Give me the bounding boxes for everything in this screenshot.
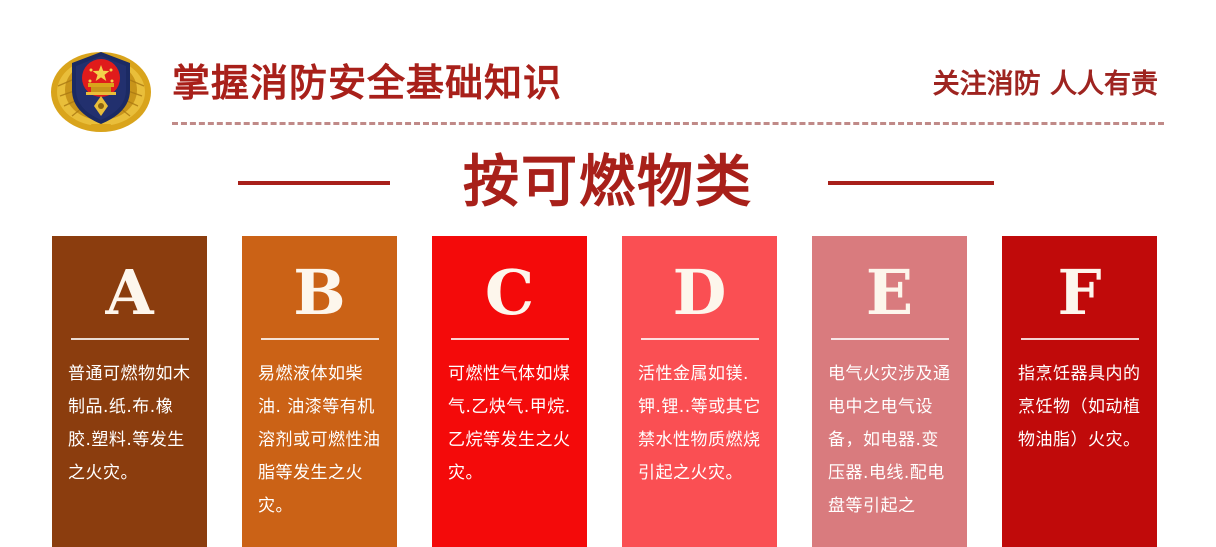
header-divider <box>172 122 1164 125</box>
section-title-row: 按可燃物类 <box>0 140 1216 224</box>
fire-class-description: 指烹饪器具内的烹饪物（如动植物油脂）火灾。 <box>1002 340 1157 457</box>
fire-class-letter: D <box>622 236 777 328</box>
fire-class-card-d: D 活性金属如镁.钾.锂..等或其它禁水性物质燃烧引起之火灾。 <box>622 236 777 547</box>
header-slogan: 关注消防 人人有责 <box>933 62 1158 101</box>
fire-class-card-c: C 可燃性气体如煤气.乙炔气.甲烷.乙烷等发生之火灾。 <box>432 236 587 547</box>
fire-class-description: 易燃液体如柴油. 油漆等有机溶剂或可燃性油脂等发生之火灾。 <box>242 340 397 523</box>
fire-class-description: 电气火灾涉及通电中之电气设备，如电器.变压器.电线.配电盘等引起之 <box>812 340 967 523</box>
poster-header: 掌握消防安全基础知识 关注消防 人人有责 <box>0 0 1216 136</box>
section-rule-right <box>828 181 994 185</box>
fire-class-card-e: E 电气火灾涉及通电中之电气设备，如电器.变压器.电线.配电盘等引起之 <box>812 236 967 547</box>
fire-class-card-b: B 易燃液体如柴油. 油漆等有机溶剂或可燃性油脂等发生之火灾。 <box>242 236 397 547</box>
section-title: 按可燃物类 <box>0 140 1216 224</box>
fire-class-description: 可燃性气体如煤气.乙炔气.甲烷.乙烷等发生之火灾。 <box>432 340 587 490</box>
fire-class-letter: E <box>812 236 967 328</box>
fire-class-letter: A <box>52 236 207 328</box>
fire-class-card-a: A 普通可燃物如木制品.纸.布.橡胶.塑料.等发生之火灾。 <box>52 236 207 547</box>
page-title: 掌握消防安全基础知识 <box>172 52 562 107</box>
fire-class-letter: C <box>432 236 587 328</box>
fire-class-description: 普通可燃物如木制品.纸.布.橡胶.塑料.等发生之火灾。 <box>52 340 207 490</box>
fire-class-description: 活性金属如镁.钾.锂..等或其它禁水性物质燃烧引起之火灾。 <box>622 340 777 490</box>
china-fire-service-emblem-icon <box>48 36 154 136</box>
fire-class-letter: F <box>1002 236 1157 328</box>
fire-class-letter: B <box>242 236 397 328</box>
fire-class-card-list: A 普通可燃物如木制品.纸.布.橡胶.塑料.等发生之火灾。 B 易燃液体如柴油.… <box>0 236 1216 547</box>
fire-safety-poster: 掌握消防安全基础知识 关注消防 人人有责 按可燃物类 A 普通可燃物如木制品.纸… <box>0 0 1216 547</box>
fire-class-card-f: F 指烹饪器具内的烹饪物（如动植物油脂）火灾。 <box>1002 236 1157 547</box>
